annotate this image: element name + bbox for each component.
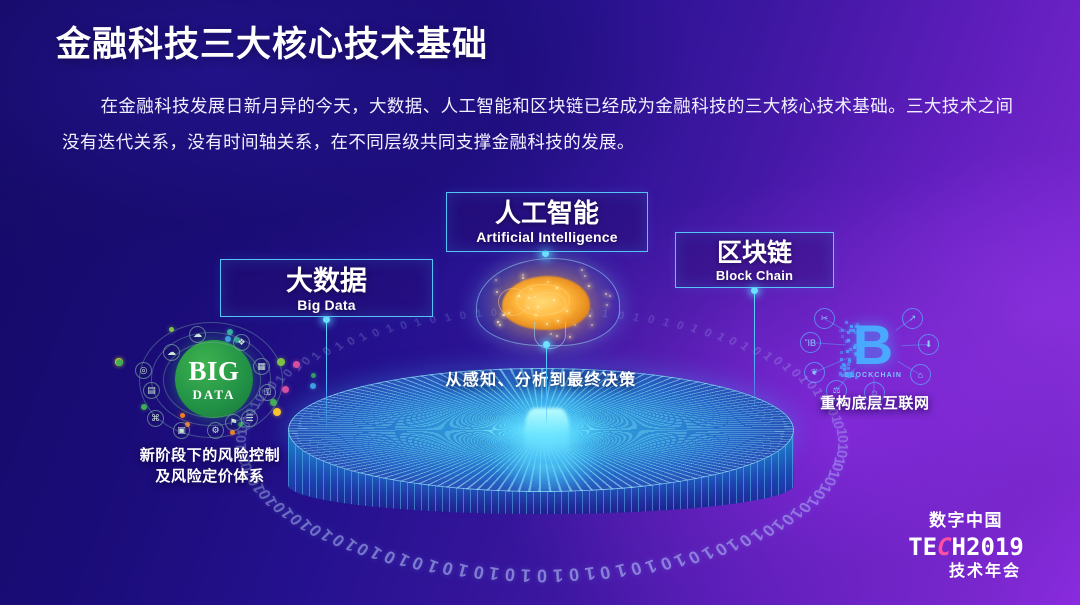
binary-digit: 1 bbox=[738, 339, 752, 354]
binary-digit: 0 bbox=[834, 435, 850, 443]
binary-digit: 0 bbox=[675, 319, 686, 333]
blockchain-pixel bbox=[853, 346, 856, 349]
connector-stem-blockchain bbox=[754, 291, 755, 407]
binary-digit: 0 bbox=[628, 557, 644, 580]
central-platform-disc: 从感知、分析到最终决策 bbox=[288, 368, 794, 548]
brain-neuron-spark-icon bbox=[535, 314, 537, 316]
intro-paragraph: 在金融科技发展日新月异的今天，大数据、人工智能和区块链已经成为金融科技的三大核心… bbox=[62, 88, 1022, 160]
binary-digit: 1 bbox=[309, 349, 324, 363]
binary-digit: 1 bbox=[262, 493, 282, 509]
brain-neuron-spark-icon bbox=[518, 295, 520, 297]
brain-fold-icon bbox=[498, 288, 528, 316]
blockchain-pixel bbox=[842, 363, 845, 366]
binary-digit: 0 bbox=[819, 474, 839, 487]
binary-digit: 0 bbox=[750, 344, 765, 359]
binary-digit: 1 bbox=[824, 468, 844, 481]
blockchain-pixel bbox=[847, 339, 850, 342]
platform-caption: 从感知、分析到最终决策 bbox=[288, 366, 794, 390]
binary-digit: 0 bbox=[828, 462, 846, 473]
binary-digit: 0 bbox=[537, 565, 547, 586]
big-data-node-dot-icon bbox=[273, 408, 281, 416]
brain-neuron-spark-icon bbox=[537, 306, 539, 308]
big-data-node-dot-icon bbox=[310, 383, 316, 389]
binary-digit: 1 bbox=[661, 316, 672, 330]
caption-bigdata-line1: 新阶段下的风险控制 bbox=[100, 445, 320, 466]
caption-bigdata: 新阶段下的风险控制 及风险定价体系 bbox=[100, 445, 320, 487]
brain-neuron-spark-icon bbox=[557, 320, 559, 322]
binary-digit: 1 bbox=[520, 564, 531, 586]
binary-digit: 1 bbox=[671, 549, 689, 572]
binary-digit: 0 bbox=[440, 557, 456, 580]
blockchain-pixel bbox=[845, 321, 848, 324]
binary-digit: 1 bbox=[394, 549, 412, 572]
connector-dot-icon bbox=[751, 287, 758, 294]
logo-line-annual-conference: 技术年会 bbox=[886, 561, 1046, 583]
binary-digit: 0 bbox=[370, 326, 383, 340]
brain-neuron-spark-icon bbox=[606, 304, 608, 306]
binary-digit: 1 bbox=[834, 442, 850, 451]
label-blockchain-cn: 区块链 bbox=[676, 239, 833, 267]
blockchain-pixel bbox=[847, 363, 850, 366]
logo-tech2019: TECH2019 bbox=[886, 533, 1046, 561]
binary-digit: 0 bbox=[794, 498, 815, 515]
binary-digit: 1 bbox=[384, 322, 396, 336]
brain-neuron-spark-icon bbox=[550, 333, 552, 335]
binary-digit: 0 bbox=[344, 334, 358, 349]
binary-digit: 1 bbox=[631, 311, 641, 324]
big-data-icon-cluster: BIG DATA ▤☁☁❖▦⚿☰⚙▣⌘◎⚑ bbox=[129, 318, 291, 442]
blockchain-pixel bbox=[855, 325, 858, 328]
blockchain-pixel bbox=[846, 350, 849, 353]
label-box-bigdata[interactable]: 大数据 Big Data bbox=[220, 259, 433, 317]
label-ai-cn: 人工智能 bbox=[447, 199, 647, 228]
brain-neuron-spark-icon bbox=[547, 281, 549, 283]
caption-blockchain: 重构底层互联网 bbox=[790, 393, 960, 414]
binary-digit: 0 bbox=[256, 487, 276, 502]
blockchain-pixel bbox=[850, 325, 853, 328]
brain-neuron-spark-icon bbox=[574, 324, 576, 326]
binary-digit: 1 bbox=[688, 322, 700, 336]
blockchain-pixel bbox=[849, 348, 852, 351]
binary-digit: 0 bbox=[269, 498, 290, 515]
blockchain-pixel bbox=[845, 373, 848, 376]
big-data-node-dot-icon bbox=[116, 359, 123, 366]
binary-digit: 1 bbox=[828, 413, 845, 424]
event-logo: 数字中国 TECH2019 技术年会 bbox=[886, 509, 1046, 583]
page-title: 金融科技三大核心技术基础 bbox=[56, 16, 488, 67]
big-data-node-dot-icon bbox=[293, 361, 300, 368]
binary-digit: 1 bbox=[613, 559, 628, 582]
label-box-blockchain[interactable]: 区块链 Block Chain bbox=[675, 232, 834, 288]
binary-digit: 1 bbox=[643, 554, 660, 577]
binary-digit: 0 bbox=[459, 309, 468, 322]
binary-digit: 0 bbox=[646, 313, 656, 326]
brain-icon bbox=[472, 254, 622, 350]
binary-digit: 0 bbox=[726, 334, 740, 349]
blockchain-pixel bbox=[840, 351, 843, 354]
blockchain-pixel bbox=[848, 358, 851, 361]
binary-digit: 1 bbox=[552, 564, 563, 586]
binary-digit: 0 bbox=[598, 561, 612, 584]
blockchain-pixel bbox=[852, 329, 855, 332]
blockchain-pixel bbox=[851, 371, 854, 374]
caption-bigdata-line2: 及风险定价体系 bbox=[100, 466, 320, 487]
connector-stem-ai bbox=[546, 345, 547, 423]
brain-neuron-spark-icon bbox=[522, 274, 524, 276]
blockchain-pixel bbox=[847, 367, 850, 370]
blockchain-pixel bbox=[854, 352, 857, 355]
brain-stem bbox=[534, 322, 566, 349]
blockchain-pixel bbox=[839, 329, 842, 332]
binary-digit: 1 bbox=[455, 559, 470, 582]
label-box-ai[interactable]: 人工智能 Artificial Intelligence bbox=[446, 192, 648, 252]
binary-digit: 1 bbox=[814, 481, 834, 495]
binary-digit: 0 bbox=[657, 552, 675, 575]
blockchain-pixel bbox=[843, 368, 846, 371]
blockchain-pixel bbox=[855, 376, 858, 379]
binary-digit: 0 bbox=[320, 344, 335, 359]
blockchain-pixel bbox=[840, 358, 843, 361]
binary-digit: 1 bbox=[424, 554, 441, 577]
blockchain-pixel bbox=[841, 374, 844, 377]
connector-dot-icon bbox=[323, 316, 330, 323]
binary-digit: 1 bbox=[443, 311, 453, 324]
brain-neuron-spark-icon bbox=[591, 324, 593, 326]
binary-digit: 1 bbox=[488, 562, 501, 584]
label-bigdata-cn: 大数据 bbox=[221, 266, 432, 296]
binary-digit: 1 bbox=[833, 428, 850, 437]
house-icon: ⌂ bbox=[910, 364, 931, 385]
binary-digit: 0 bbox=[808, 487, 828, 502]
logo-line-digital-china: 数字中国 bbox=[886, 509, 1046, 533]
connector-dot-icon bbox=[543, 341, 550, 348]
blockchain-pixel bbox=[848, 375, 851, 378]
label-blockchain-en: Block Chain bbox=[676, 268, 833, 283]
binary-digit: 1 bbox=[714, 330, 727, 344]
binary-digit: 1 bbox=[760, 349, 775, 363]
big-data-connector-arc bbox=[139, 322, 283, 438]
binary-digit: 0 bbox=[833, 449, 850, 458]
presentation-slide: 金融科技三大核心技术基础 在金融科技发展日新月异的今天，大数据、人工智能和区块链… bbox=[0, 0, 1080, 605]
blockchain-pixel bbox=[841, 335, 844, 338]
binary-digit: 0 bbox=[504, 563, 516, 585]
logo-tech-suffix: H2019 bbox=[952, 533, 1024, 561]
big-data-node-dot-icon bbox=[311, 373, 316, 378]
brain-neuron-spark-icon bbox=[530, 288, 532, 290]
blockchain-connector-line bbox=[873, 374, 874, 392]
brain-neuron-spark-icon bbox=[553, 299, 555, 301]
binary-digit: 1 bbox=[413, 316, 424, 330]
brain-neuron-spark-icon bbox=[499, 324, 501, 326]
binary-digit: 1 bbox=[583, 562, 596, 584]
blockchain-pixel bbox=[847, 331, 850, 334]
binary-digit: 0 bbox=[831, 421, 848, 431]
binary-digit: 0 bbox=[685, 545, 704, 568]
label-bigdata-en: Big Data bbox=[221, 297, 432, 313]
binary-digit: 0 bbox=[471, 561, 485, 584]
binary-digit: 0 bbox=[568, 563, 580, 585]
binary-digit: 0 bbox=[398, 319, 409, 333]
logo-tech-prefix: TE bbox=[908, 533, 937, 561]
binary-digit: 1 bbox=[331, 339, 345, 354]
label-ai-en: Artificial Intelligence bbox=[447, 229, 647, 245]
binary-digit: 1 bbox=[357, 330, 370, 344]
brain-neuron-spark-icon bbox=[566, 310, 568, 312]
big-data-node-dot-icon bbox=[282, 386, 289, 393]
binary-digit: 1 bbox=[830, 455, 848, 466]
binary-digit: 0 bbox=[380, 545, 399, 568]
binary-digit: 1 bbox=[802, 493, 822, 509]
connector-stem-bigdata bbox=[326, 320, 327, 428]
binary-digit: 0 bbox=[409, 552, 427, 575]
core-cylinder bbox=[525, 408, 569, 464]
blockchain-icon-cluster: B BLOCKCHAIN ✂ἽB❦⚖☺⌂⬇↗ bbox=[798, 306, 948, 398]
binary-digit: 0 bbox=[702, 326, 715, 340]
